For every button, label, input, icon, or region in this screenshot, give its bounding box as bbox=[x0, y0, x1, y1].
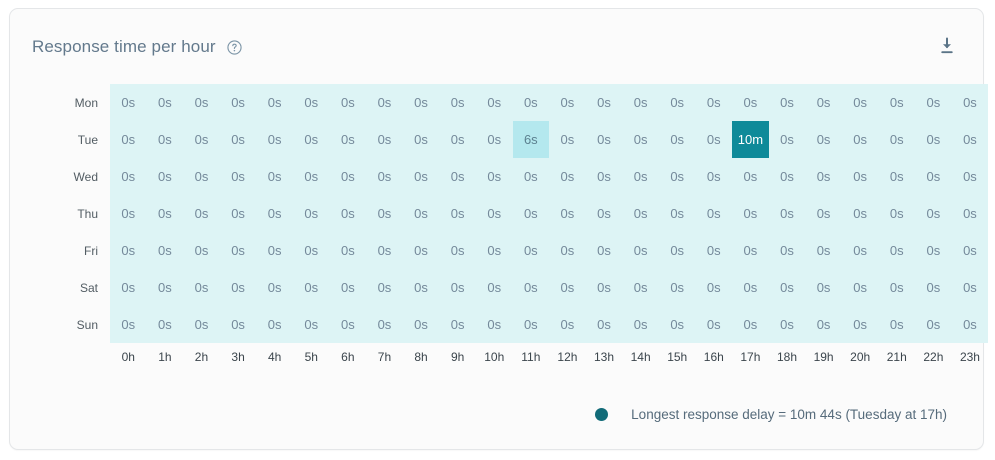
heatmap-cell[interactable]: 0s bbox=[439, 158, 476, 195]
heatmap-row: Tue0s0s0s0s0s0s0s0s0s0s0s6s0s0s0s0s0s10m… bbox=[66, 121, 988, 158]
heatmap-cell[interactable]: 0s bbox=[147, 121, 184, 158]
heatmap-cell[interactable]: 0s bbox=[952, 232, 989, 269]
heatmap-cell[interactable]: 0s bbox=[293, 158, 330, 195]
heatmap-cell[interactable]: 0s bbox=[256, 269, 293, 306]
heatmap-cell[interactable]: 0s bbox=[586, 158, 623, 195]
heatmap-cell[interactable]: 0s bbox=[110, 195, 147, 232]
heatmap-cell[interactable]: 0s bbox=[659, 158, 696, 195]
heatmap-cell[interactable]: 0s bbox=[476, 195, 513, 232]
heatmap-day-label: Thu bbox=[66, 195, 110, 232]
heatmap-cell[interactable]: 0s bbox=[732, 269, 769, 306]
heatmap-cell[interactable]: 0s bbox=[513, 269, 550, 306]
heatmap-cell[interactable]: 0s bbox=[293, 232, 330, 269]
heatmap-cell[interactable]: 0s bbox=[330, 121, 367, 158]
heatmap-hour-label: 21h bbox=[878, 350, 915, 364]
heatmap-cell[interactable]: 0s bbox=[549, 158, 586, 195]
heatmap-cell[interactable]: 0s bbox=[622, 269, 659, 306]
heatmap-row: Wed0s0s0s0s0s0s0s0s0s0s0s0s0s0s0s0s0s0s0… bbox=[66, 158, 988, 195]
heatmap-cell[interactable]: 0s bbox=[805, 84, 842, 121]
heatmap-row: Sat0s0s0s0s0s0s0s0s0s0s0s0s0s0s0s0s0s0s0… bbox=[66, 269, 988, 306]
heatmap-cell[interactable]: 0s bbox=[842, 84, 879, 121]
heatmap-cell[interactable]: 0s bbox=[732, 306, 769, 343]
heatmap-day-label: Sat bbox=[66, 269, 110, 306]
heatmap-cell[interactable]: 0s bbox=[696, 195, 733, 232]
heatmap-cell[interactable]: 0s bbox=[622, 158, 659, 195]
heatmap-cell[interactable]: 0s bbox=[476, 232, 513, 269]
heatmap-cell[interactable]: 0s bbox=[805, 306, 842, 343]
heatmap-cell[interactable]: 0s bbox=[293, 306, 330, 343]
heatmap-cell[interactable]: 0s bbox=[110, 306, 147, 343]
heatmap-cell[interactable]: 0s bbox=[769, 158, 806, 195]
heatmap-cell[interactable]: 0s bbox=[147, 269, 184, 306]
heatmap-cell[interactable]: 0s bbox=[842, 232, 879, 269]
heatmap-cell[interactable]: 0s bbox=[842, 195, 879, 232]
heatmap-cell[interactable]: 0s bbox=[476, 306, 513, 343]
heatmap-cell[interactable]: 0s bbox=[915, 121, 952, 158]
heatmap-cell[interactable]: 0s bbox=[878, 195, 915, 232]
heatmap-row: Thu0s0s0s0s0s0s0s0s0s0s0s0s0s0s0s0s0s0s0… bbox=[66, 195, 988, 232]
heatmap-hour-label: 16h bbox=[696, 350, 733, 364]
heatmap-day-label: Fri bbox=[66, 232, 110, 269]
heatmap-cell[interactable]: 0s bbox=[586, 121, 623, 158]
heatmap-hour-label: 5h bbox=[293, 350, 330, 364]
heatmap-cell[interactable]: 0s bbox=[183, 84, 220, 121]
heatmap-cell[interactable]: 0s bbox=[952, 84, 989, 121]
heatmap-cell[interactable]: 0s bbox=[439, 195, 476, 232]
heatmap-cell[interactable]: 0s bbox=[403, 195, 440, 232]
heatmap-cell[interactable]: 0s bbox=[110, 232, 147, 269]
heatmap-cell[interactable]: 0s bbox=[476, 269, 513, 306]
heatmap-cell[interactable]: 0s bbox=[439, 232, 476, 269]
heatmap-cell[interactable]: 0s bbox=[147, 84, 184, 121]
heatmap-cell[interactable]: 0s bbox=[256, 306, 293, 343]
heatmap-cell[interactable]: 0s bbox=[769, 121, 806, 158]
heatmap-hour-label: 11h bbox=[513, 350, 550, 364]
heatmap-x-axis: 0h1h2h3h4h5h6h7h8h9h10h11h12h13h14h15h16… bbox=[110, 350, 988, 364]
heatmap-cell[interactable]: 0s bbox=[878, 158, 915, 195]
heatmap-cell[interactable]: 0s bbox=[915, 306, 952, 343]
heatmap-cell[interactable]: 0s bbox=[549, 269, 586, 306]
heatmap-cell[interactable]: 0s bbox=[110, 269, 147, 306]
heatmap-hour-label: 23h bbox=[952, 350, 989, 364]
heatmap-cell[interactable]: 0s bbox=[659, 269, 696, 306]
heatmap-cell[interactable]: 0s bbox=[842, 306, 879, 343]
title-group: Response time per hour bbox=[32, 37, 242, 57]
heatmap-cell[interactable]: 0s bbox=[183, 195, 220, 232]
heatmap-cell[interactable]: 0s bbox=[622, 195, 659, 232]
heatmap-cell[interactable]: 0s bbox=[256, 195, 293, 232]
heatmap-cell[interactable]: 0s bbox=[330, 306, 367, 343]
heatmap-cell[interactable]: 0s bbox=[147, 232, 184, 269]
heatmap-hour-label: 3h bbox=[220, 350, 257, 364]
heatmap-cell[interactable]: 0s bbox=[878, 121, 915, 158]
heatmap-cell[interactable]: 0s bbox=[439, 306, 476, 343]
heatmap-cell[interactable]: 0s bbox=[549, 121, 586, 158]
heatmap-cell[interactable]: 0s bbox=[183, 269, 220, 306]
heatmap-cell[interactable]: 0s bbox=[330, 84, 367, 121]
heatmap-row-cells: 0s0s0s0s0s0s0s0s0s0s0s0s0s0s0s0s0s0s0s0s… bbox=[110, 158, 988, 195]
heatmap-cell[interactable]: 0s bbox=[513, 232, 550, 269]
heatmap-cell[interactable]: 0s bbox=[220, 232, 257, 269]
heatmap-cell[interactable]: 0s bbox=[439, 84, 476, 121]
heatmap-cell[interactable]: 0s bbox=[732, 84, 769, 121]
heatmap-hour-label: 8h bbox=[403, 350, 440, 364]
heatmap-cell[interactable]: 0s bbox=[622, 306, 659, 343]
heatmap-cell[interactable]: 0s bbox=[586, 84, 623, 121]
heatmap-cell[interactable]: 0s bbox=[293, 195, 330, 232]
heatmap-cell[interactable]: 0s bbox=[842, 121, 879, 158]
heatmap-cell[interactable]: 0s bbox=[952, 121, 989, 158]
heatmap-cell[interactable]: 0s bbox=[147, 195, 184, 232]
heatmap-cell[interactable]: 0s bbox=[256, 84, 293, 121]
heatmap-grid: Mon0s0s0s0s0s0s0s0s0s0s0s0s0s0s0s0s0s0s0… bbox=[66, 84, 988, 343]
heatmap-cell[interactable]: 0s bbox=[732, 232, 769, 269]
heatmap-cell[interactable]: 0s bbox=[513, 306, 550, 343]
heatmap-cell[interactable]: 0s bbox=[915, 84, 952, 121]
question-circle-icon[interactable] bbox=[227, 40, 242, 55]
heatmap-cell[interactable]: 0s bbox=[732, 195, 769, 232]
heatmap-cell[interactable]: 0s bbox=[842, 269, 879, 306]
heatmap-cell[interactable]: 0s bbox=[952, 195, 989, 232]
heatmap-cell[interactable]: 0s bbox=[366, 84, 403, 121]
heatmap-cell[interactable]: 0s bbox=[732, 158, 769, 195]
heatmap-cell[interactable]: 0s bbox=[878, 232, 915, 269]
heatmap-cell[interactable]: 0s bbox=[878, 84, 915, 121]
heatmap-cell[interactable]: 0s bbox=[696, 84, 733, 121]
heatmap-cell[interactable]: 10m bbox=[732, 121, 769, 158]
heatmap-cell[interactable]: 0s bbox=[256, 232, 293, 269]
heatmap-cell[interactable]: 0s bbox=[659, 232, 696, 269]
heatmap-hour-label: 7h bbox=[366, 350, 403, 364]
legend-label: Longest response delay = 10m 44s (Tuesda… bbox=[631, 407, 947, 422]
heatmap-cell[interactable]: 0s bbox=[878, 269, 915, 306]
heatmap-hour-label: 19h bbox=[805, 350, 842, 364]
heatmap-cell[interactable]: 0s bbox=[952, 269, 989, 306]
heatmap-row-cells: 0s0s0s0s0s0s0s0s0s0s0s0s0s0s0s0s0s0s0s0s… bbox=[110, 269, 988, 306]
heatmap-hour-label: 17h bbox=[732, 350, 769, 364]
heatmap-cell[interactable]: 0s bbox=[147, 306, 184, 343]
chart-legend: Longest response delay = 10m 44s (Tuesda… bbox=[595, 407, 947, 422]
heatmap-hour-label: 12h bbox=[549, 350, 586, 364]
heatmap-hour-label: 4h bbox=[256, 350, 293, 364]
heatmap-cell[interactable]: 0s bbox=[769, 84, 806, 121]
heatmap-cell[interactable]: 0s bbox=[220, 195, 257, 232]
heatmap-row: Mon0s0s0s0s0s0s0s0s0s0s0s0s0s0s0s0s0s0s0… bbox=[66, 84, 988, 121]
heatmap-cell[interactable]: 0s bbox=[403, 121, 440, 158]
heatmap-day-label: Tue bbox=[66, 121, 110, 158]
heatmap-cell[interactable]: 0s bbox=[842, 158, 879, 195]
heatmap-cell[interactable]: 0s bbox=[476, 158, 513, 195]
heatmap-cell[interactable]: 0s bbox=[696, 158, 733, 195]
heatmap-cell[interactable]: 0s bbox=[110, 121, 147, 158]
heatmap-row: Fri0s0s0s0s0s0s0s0s0s0s0s0s0s0s0s0s0s0s0… bbox=[66, 232, 988, 269]
heatmap-cell[interactable]: 0s bbox=[183, 121, 220, 158]
heatmap-cell[interactable]: 0s bbox=[183, 158, 220, 195]
heatmap-cell[interactable]: 0s bbox=[622, 84, 659, 121]
heatmap-cell[interactable]: 0s bbox=[293, 84, 330, 121]
heatmap-cell[interactable]: 0s bbox=[110, 158, 147, 195]
heatmap-cell[interactable]: 0s bbox=[330, 195, 367, 232]
heatmap-cell[interactable]: 0s bbox=[769, 232, 806, 269]
heatmap-cell[interactable]: 0s bbox=[220, 84, 257, 121]
heatmap-chart: Mon0s0s0s0s0s0s0s0s0s0s0s0s0s0s0s0s0s0s0… bbox=[66, 84, 988, 364]
heatmap-cell[interactable]: 0s bbox=[147, 158, 184, 195]
heatmap-cell[interactable]: 0s bbox=[952, 306, 989, 343]
heatmap-cell[interactable]: 0s bbox=[403, 84, 440, 121]
heatmap-hour-label: 9h bbox=[439, 350, 476, 364]
card-header: Response time per hour bbox=[10, 9, 983, 77]
heatmap-cell[interactable]: 0s bbox=[586, 232, 623, 269]
heatmap-cell[interactable]: 0s bbox=[696, 121, 733, 158]
heatmap-cell[interactable]: 0s bbox=[659, 195, 696, 232]
heatmap-cell[interactable]: 0s bbox=[476, 121, 513, 158]
heatmap-cell[interactable]: 0s bbox=[622, 121, 659, 158]
heatmap-cell[interactable]: 0s bbox=[659, 121, 696, 158]
heatmap-hour-label: 18h bbox=[769, 350, 806, 364]
heatmap-cell[interactable]: 0s bbox=[256, 121, 293, 158]
heatmap-cell[interactable]: 0s bbox=[769, 195, 806, 232]
heatmap-cell[interactable]: 0s bbox=[769, 306, 806, 343]
heatmap-cell[interactable]: 0s bbox=[586, 195, 623, 232]
heatmap-hour-label: 10h bbox=[476, 350, 513, 364]
heatmap-cell[interactable]: 0s bbox=[366, 158, 403, 195]
heatmap-cell[interactable]: 0s bbox=[330, 158, 367, 195]
heatmap-cell[interactable]: 0s bbox=[696, 232, 733, 269]
response-time-card: Response time per hour Mon0s0s0s0s0s0s0s… bbox=[9, 8, 984, 450]
heatmap-cell[interactable]: 0s bbox=[586, 306, 623, 343]
heatmap-cell[interactable]: 0s bbox=[622, 232, 659, 269]
heatmap-day-label: Mon bbox=[66, 84, 110, 121]
heatmap-cell[interactable]: 0s bbox=[769, 269, 806, 306]
heatmap-cell[interactable]: 0s bbox=[476, 84, 513, 121]
heatmap-cell[interactable]: 0s bbox=[878, 306, 915, 343]
heatmap-hour-label: 2h bbox=[183, 350, 220, 364]
heatmap-cell[interactable]: 0s bbox=[915, 269, 952, 306]
heatmap-cell[interactable]: 0s bbox=[220, 158, 257, 195]
heatmap-cell[interactable]: 0s bbox=[915, 195, 952, 232]
heatmap-cell[interactable]: 0s bbox=[330, 232, 367, 269]
heatmap-cell[interactable]: 0s bbox=[366, 195, 403, 232]
heatmap-hour-label: 13h bbox=[586, 350, 623, 364]
heatmap-cell[interactable]: 0s bbox=[183, 306, 220, 343]
heatmap-hour-label: 15h bbox=[659, 350, 696, 364]
heatmap-cell[interactable]: 0s bbox=[220, 121, 257, 158]
heatmap-row-cells: 0s0s0s0s0s0s0s0s0s0s0s0s0s0s0s0s0s0s0s0s… bbox=[110, 84, 988, 121]
heatmap-day-label: Wed bbox=[66, 158, 110, 195]
heatmap-cell[interactable]: 0s bbox=[805, 195, 842, 232]
heatmap-cell[interactable]: 0s bbox=[915, 158, 952, 195]
heatmap-cell[interactable]: 0s bbox=[915, 232, 952, 269]
heatmap-hour-label: 1h bbox=[147, 350, 184, 364]
heatmap-cell[interactable]: 0s bbox=[439, 269, 476, 306]
heatmap-cell[interactable]: 0s bbox=[659, 84, 696, 121]
heatmap-cell[interactable]: 0s bbox=[659, 306, 696, 343]
heatmap-cell[interactable]: 0s bbox=[586, 269, 623, 306]
heatmap-cell[interactable]: 0s bbox=[513, 195, 550, 232]
heatmap-row-cells: 0s0s0s0s0s0s0s0s0s0s0s0s0s0s0s0s0s0s0s0s… bbox=[110, 306, 988, 343]
heatmap-cell[interactable]: 0s bbox=[293, 121, 330, 158]
heatmap-cell[interactable]: 0s bbox=[513, 158, 550, 195]
heatmap-cell[interactable]: 0s bbox=[513, 84, 550, 121]
heatmap-cell[interactable]: 0s bbox=[293, 269, 330, 306]
heatmap-row-cells: 0s0s0s0s0s0s0s0s0s0s0s0s0s0s0s0s0s0s0s0s… bbox=[110, 195, 988, 232]
heatmap-hour-label: 22h bbox=[915, 350, 952, 364]
heatmap-cell[interactable]: 0s bbox=[696, 306, 733, 343]
heatmap-cell[interactable]: 0s bbox=[220, 269, 257, 306]
heatmap-hour-label: 20h bbox=[842, 350, 879, 364]
heatmap-cell[interactable]: 0s bbox=[366, 232, 403, 269]
heatmap-cell[interactable]: 0s bbox=[330, 269, 367, 306]
heatmap-cell[interactable]: 0s bbox=[403, 158, 440, 195]
heatmap-row-cells: 0s0s0s0s0s0s0s0s0s0s0s0s0s0s0s0s0s0s0s0s… bbox=[110, 232, 988, 269]
heatmap-cell[interactable]: 0s bbox=[183, 232, 220, 269]
heatmap-cell[interactable]: 0s bbox=[549, 306, 586, 343]
heatmap-cell[interactable]: 0s bbox=[696, 269, 733, 306]
heatmap-row-cells: 0s0s0s0s0s0s0s0s0s0s0s6s0s0s0s0s0s10m0s0… bbox=[110, 121, 988, 158]
heatmap-cell[interactable]: 0s bbox=[549, 232, 586, 269]
heatmap-cell[interactable]: 0s bbox=[805, 269, 842, 306]
heatmap-cell[interactable]: 0s bbox=[366, 306, 403, 343]
heatmap-hour-label: 6h bbox=[330, 350, 367, 364]
heatmap-cell[interactable]: 0s bbox=[366, 121, 403, 158]
heatmap-cell[interactable]: 0s bbox=[256, 158, 293, 195]
heatmap-cell[interactable]: 0s bbox=[366, 269, 403, 306]
heatmap-cell[interactable]: 0s bbox=[549, 195, 586, 232]
heatmap-cell[interactable]: 0s bbox=[439, 121, 476, 158]
heatmap-cell[interactable]: 0s bbox=[805, 158, 842, 195]
heatmap-hour-label: 0h bbox=[110, 350, 147, 364]
heatmap-cell[interactable]: 0s bbox=[805, 232, 842, 269]
heatmap-cell[interactable]: 0s bbox=[805, 121, 842, 158]
heatmap-cell[interactable]: 0s bbox=[403, 269, 440, 306]
heatmap-cell[interactable]: 0s bbox=[549, 84, 586, 121]
heatmap-row: Sun0s0s0s0s0s0s0s0s0s0s0s0s0s0s0s0s0s0s0… bbox=[66, 306, 988, 343]
heatmap-cell[interactable]: 0s bbox=[403, 232, 440, 269]
heatmap-day-label: Sun bbox=[66, 306, 110, 343]
heatmap-cell[interactable]: 0s bbox=[403, 306, 440, 343]
legend-dot-icon bbox=[595, 408, 608, 421]
heatmap-hour-label: 14h bbox=[622, 350, 659, 364]
heatmap-cell[interactable]: 0s bbox=[220, 306, 257, 343]
heatmap-cell[interactable]: 0s bbox=[952, 158, 989, 195]
page-title: Response time per hour bbox=[32, 37, 216, 57]
heatmap-cell[interactable]: 0s bbox=[110, 84, 147, 121]
heatmap-cell[interactable]: 6s bbox=[513, 121, 550, 158]
download-icon[interactable] bbox=[937, 36, 957, 56]
